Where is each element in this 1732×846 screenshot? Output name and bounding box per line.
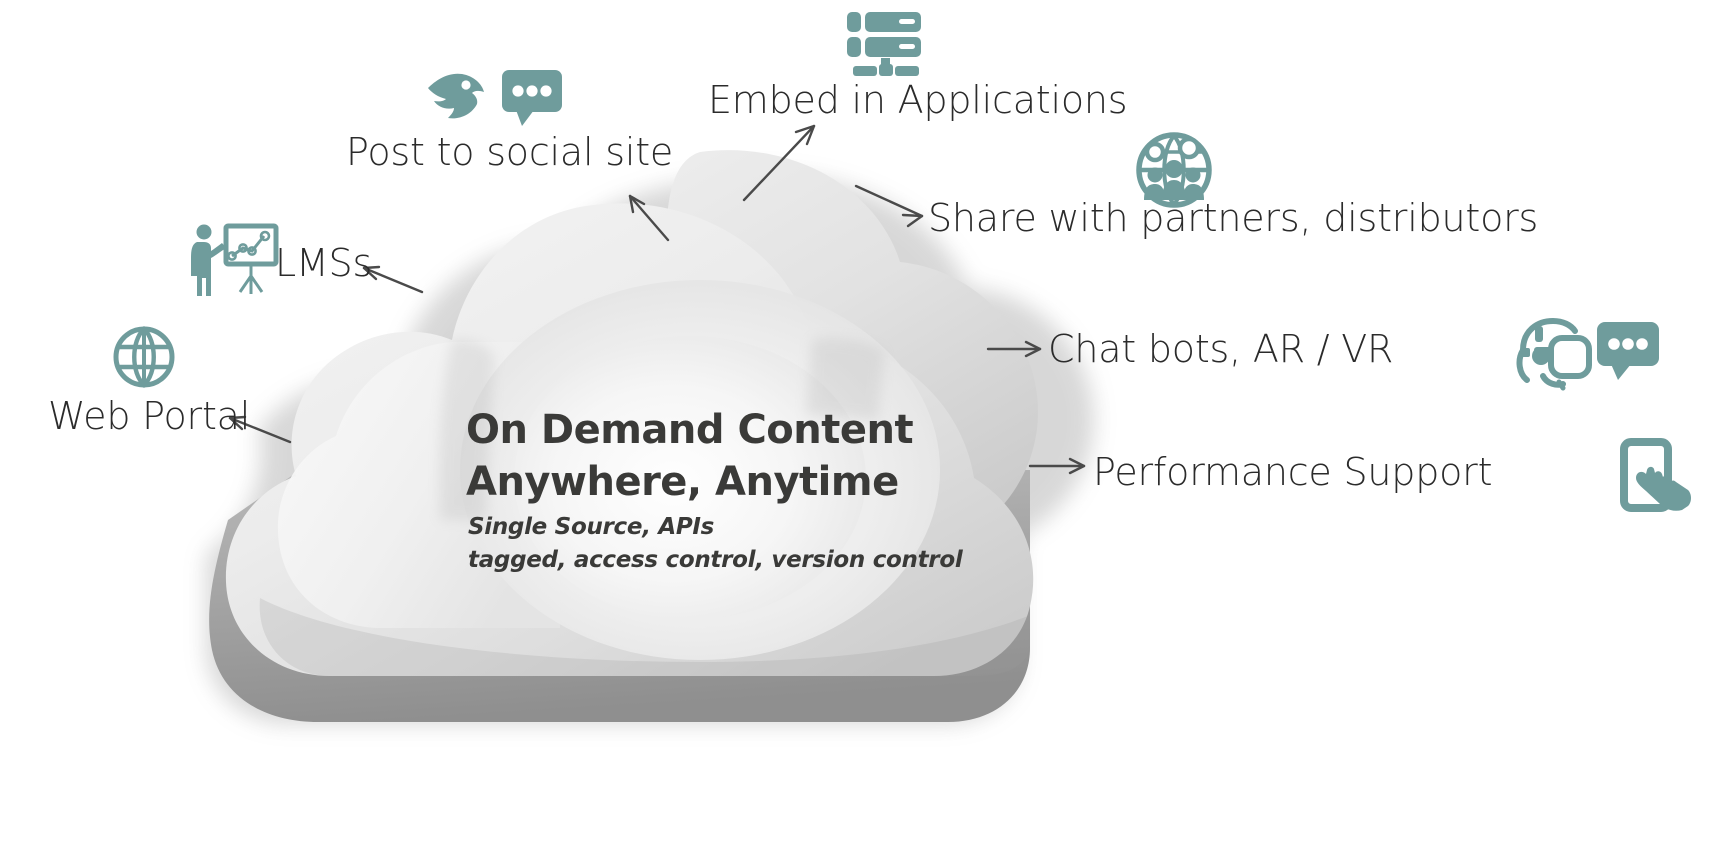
globe-icon	[113, 326, 175, 388]
chat-bubble-icon	[1595, 320, 1661, 382]
vr-headset-icon	[1513, 314, 1595, 392]
arrow-share-with-partners-head	[903, 215, 922, 226]
tablet-tap-icon	[1620, 438, 1698, 516]
cloud-headline-line-2: Anywhere, Anytime	[466, 456, 899, 508]
cloud-headline-line-1: On Demand Content	[466, 404, 913, 456]
arrow-share-with-partners	[856, 186, 922, 216]
cloud-subtext-line-1: Single Source, APIs	[468, 511, 714, 544]
arrow-post-to-social-site	[630, 196, 668, 240]
label-chat-bots-ar-vr: Chat bots, AR / VR	[1048, 327, 1393, 371]
bird-icon	[418, 66, 488, 126]
label-performance-support: Performance Support	[1093, 450, 1492, 494]
presenter-board-icon	[188, 218, 284, 296]
label-web-portal: Web Portal	[48, 394, 250, 438]
label-share-with-partners-distributors: Share with partners, distributors	[928, 196, 1538, 240]
label-embed-in-applications: Embed in Applications	[708, 78, 1127, 122]
label-lmss: LMSs	[275, 241, 372, 285]
diagram-canvas: Post to social site Embed in Application…	[0, 0, 1732, 846]
server-rack-icon	[845, 8, 927, 80]
chat-bubble-icon	[500, 68, 564, 128]
cloud-subtext-line-2: tagged, access control, version control	[468, 544, 962, 577]
arrow-embed-in-applications	[744, 126, 814, 200]
arrow-lmss	[364, 268, 422, 292]
label-post-to-social-site: Post to social site	[346, 130, 673, 174]
